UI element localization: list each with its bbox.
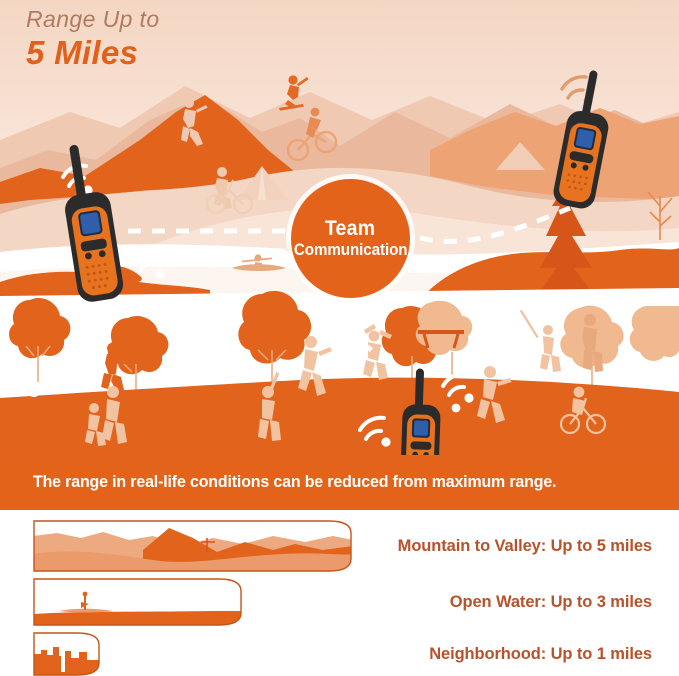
disclaimer-banner: The range in real-life conditions can be… — [0, 455, 679, 510]
thumb-mountain-valley — [33, 520, 353, 572]
headline: Range Up to 5 Miles — [26, 4, 160, 72]
thumb-open-water — [33, 578, 263, 626]
thumb-boat-top — [83, 592, 88, 597]
range-row-neighborhood: Neighborhood: Up to 1 miles — [0, 632, 679, 676]
headline-line2: 5 Miles — [26, 34, 160, 72]
range-label-neighborhood: Neighborhood: Up to 1 miles — [429, 645, 652, 664]
range-rows: Mountain to Valley: Up to 5 miles Open W… — [0, 510, 679, 676]
badge-line2: Communication — [294, 240, 408, 260]
headline-line1: Range Up to — [26, 4, 160, 34]
landscape-scene: Range Up to 5 Miles Team Communication — [0, 0, 679, 510]
range-row-open-water: Open Water: Up to 3 miles — [0, 578, 679, 626]
thumb-street — [61, 646, 65, 672]
disclaimer-text: The range in real-life conditions can be… — [33, 473, 556, 492]
range-row-mountain-valley: Mountain to Valley: Up to 5 miles — [0, 520, 679, 572]
infographic-root: Range Up to 5 Miles Team Communication T… — [0, 0, 679, 676]
thumb-neighborhood — [33, 632, 123, 676]
ball-white — [28, 385, 40, 397]
range-label-mountain-valley: Mountain to Valley: Up to 5 miles — [398, 537, 652, 556]
range-label-open-water: Open Water: Up to 3 miles — [450, 593, 652, 612]
team-communication-badge: Team Communication — [291, 179, 410, 298]
badge-line1: Team — [325, 218, 375, 240]
